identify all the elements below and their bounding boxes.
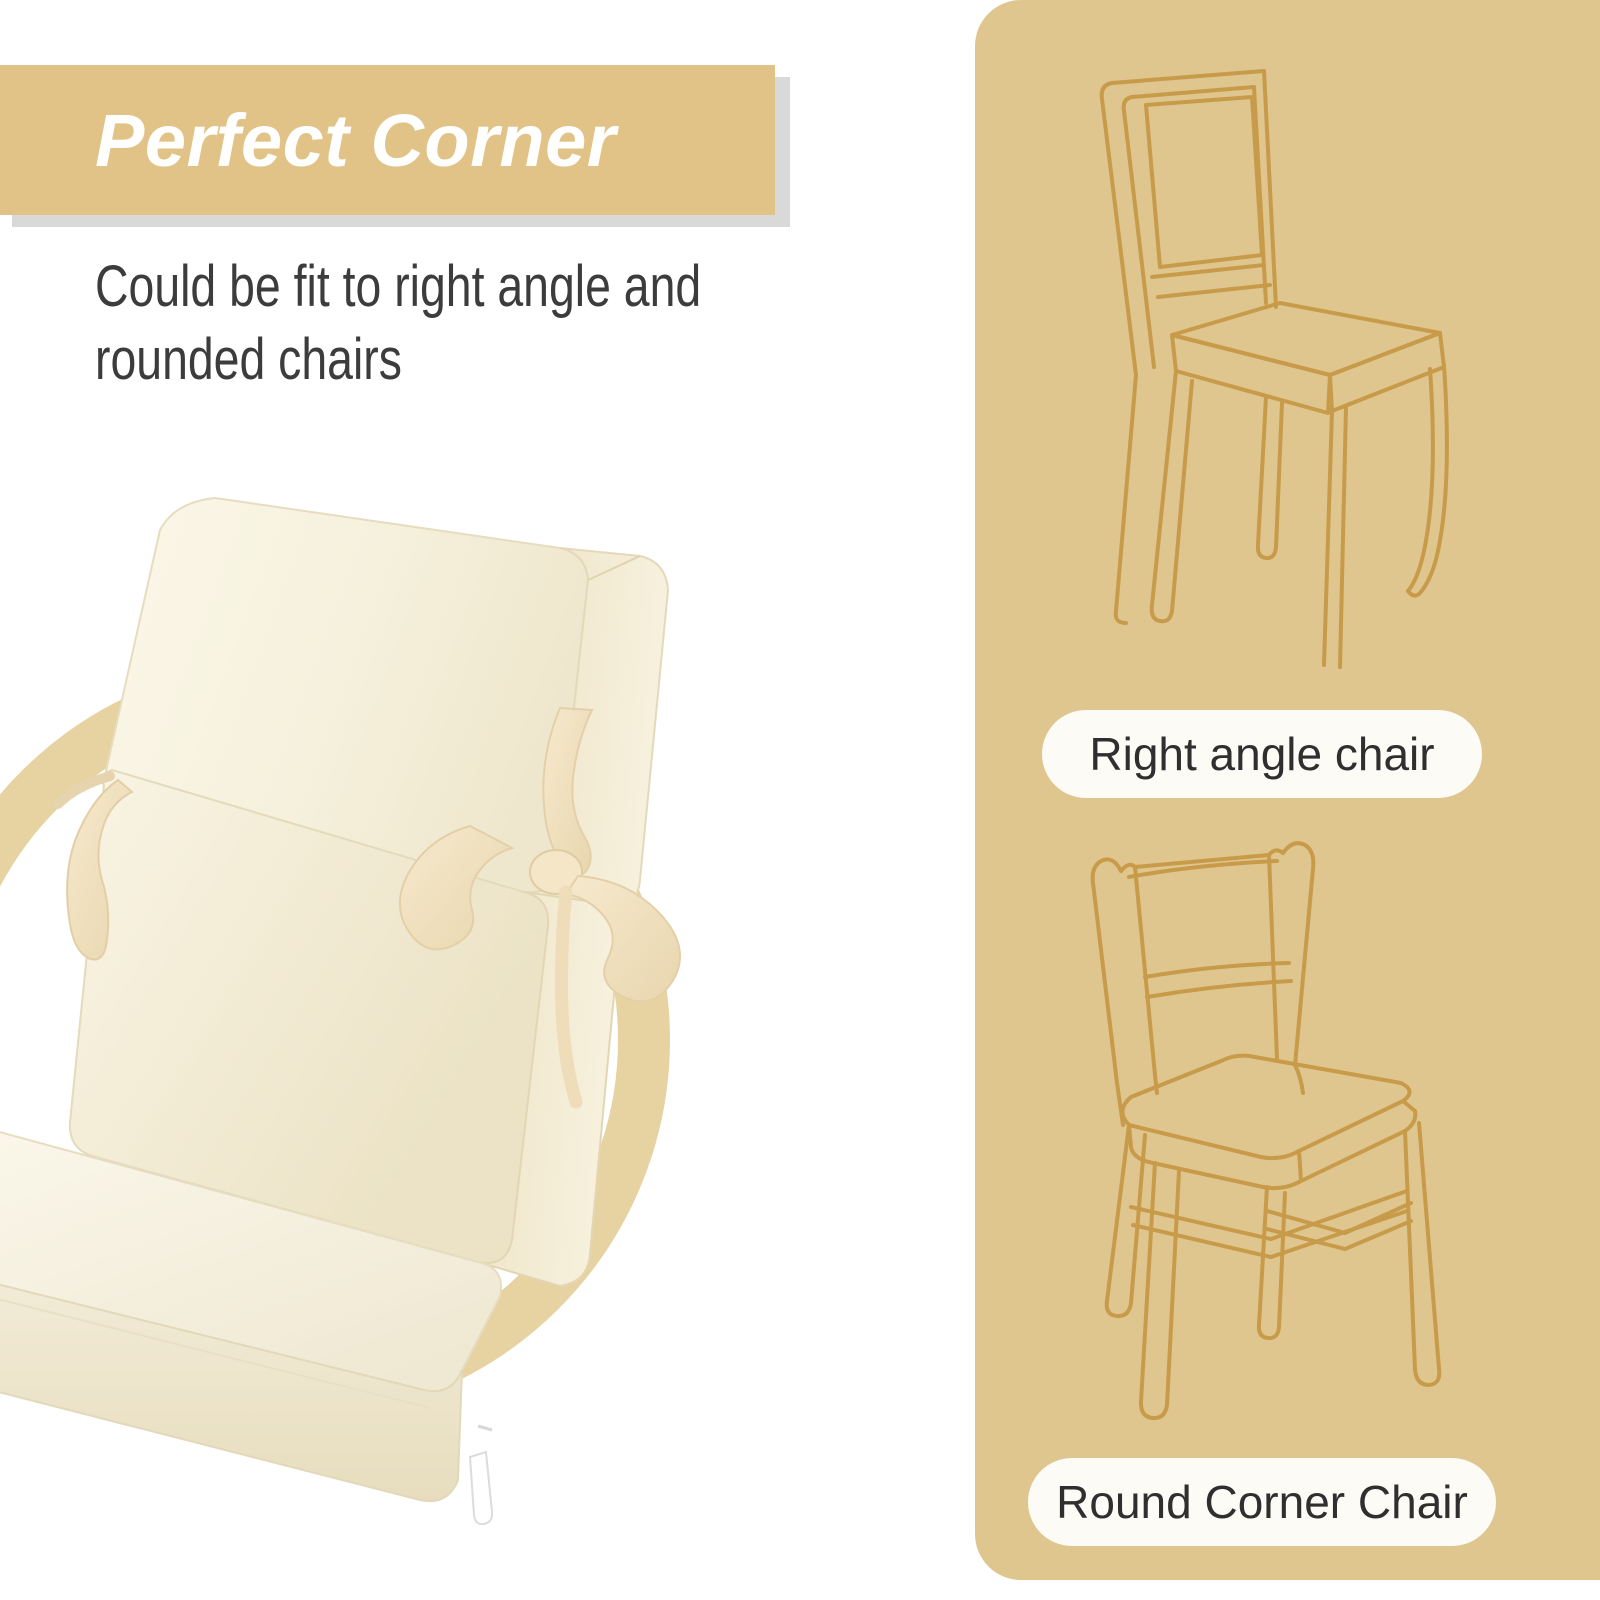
round-corner-chair-illustration [1045,825,1545,1435]
zipper-pull [470,1426,517,1600]
label-right-angle-chair-text: Right angle chair [1089,727,1434,781]
subtitle-text: Could be fit to right angle and rounded … [95,250,759,396]
label-round-corner-chair-text: Round Corner Chair [1056,1475,1468,1529]
label-right-angle-chair[interactable]: Right angle chair [1042,710,1482,798]
infographic-canvas: Perfect Corner Could be fit to right ang… [0,0,1600,1600]
product-photo [0,440,720,1600]
page-title: Perfect Corner [95,85,795,197]
right-angle-chair-illustration [1040,45,1560,685]
label-round-corner-chair[interactable]: Round Corner Chair [1028,1458,1496,1546]
